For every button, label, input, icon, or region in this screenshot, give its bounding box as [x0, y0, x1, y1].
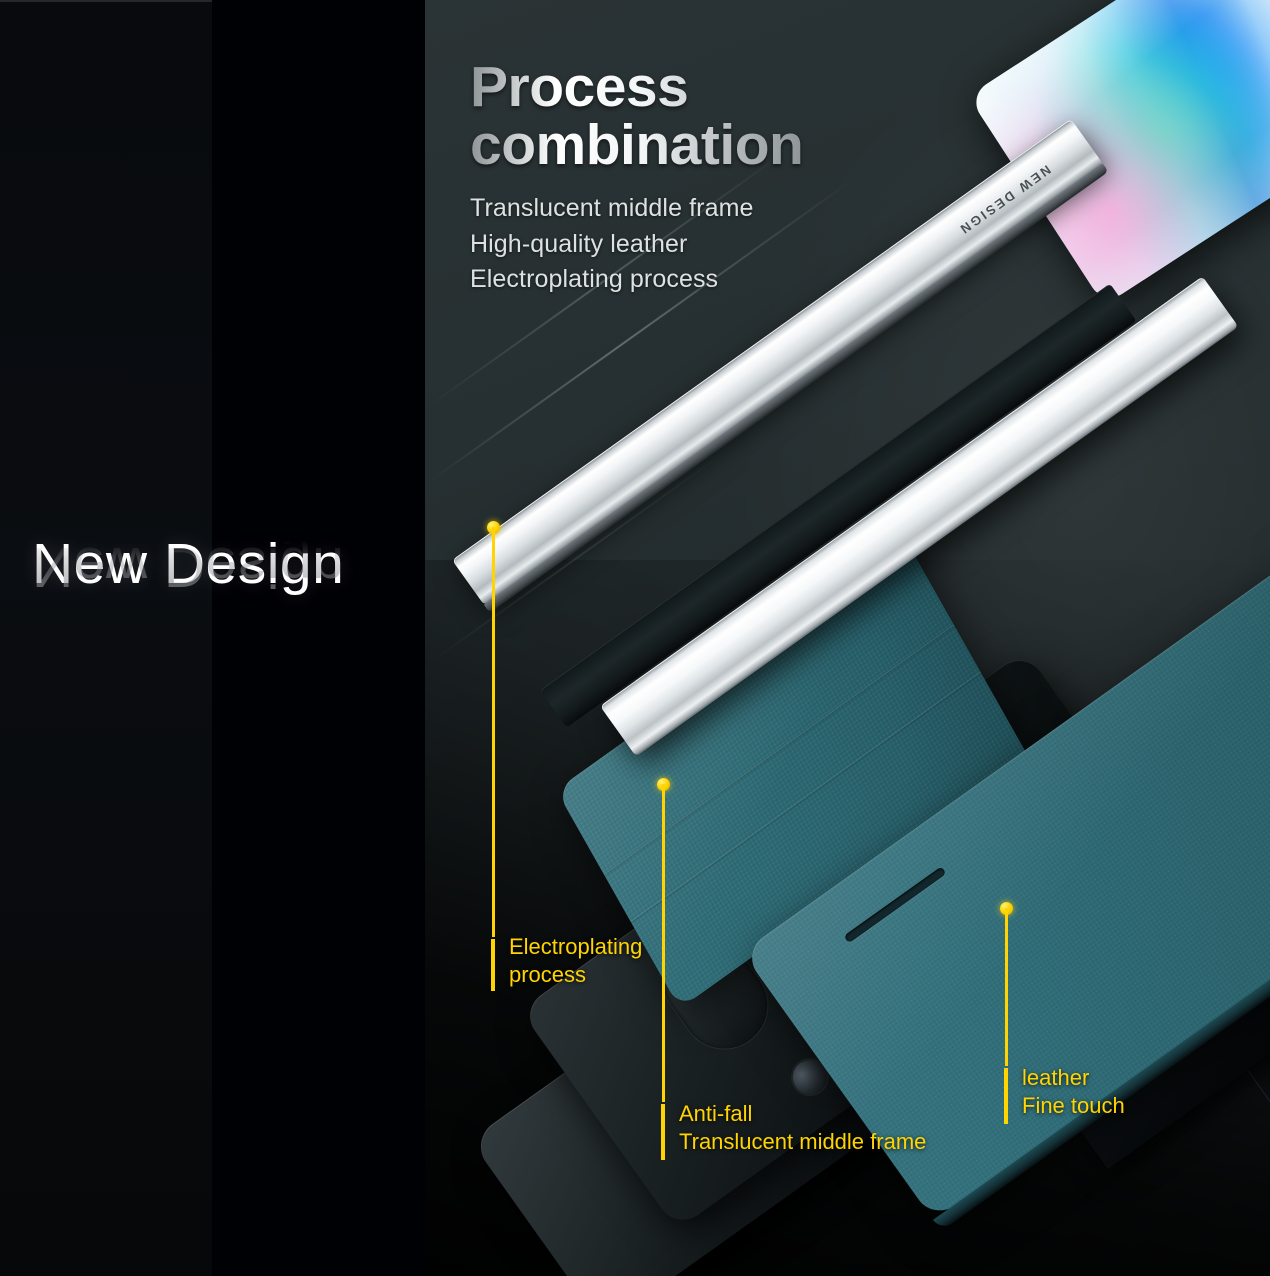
callout-label-electroplating: Electroplating process — [509, 933, 642, 989]
product-marketing-banner: NEW DESIGN Process combination Transluce… — [0, 0, 1270, 1276]
feature-list: Translucent middle frame High-quality le… — [470, 191, 803, 298]
callout-line-1: Anti-fall — [679, 1100, 926, 1128]
headline-line-1: Process — [470, 58, 803, 116]
feature-item-leather: High-quality leather — [470, 227, 803, 263]
callout-leader-line — [662, 784, 665, 1102]
callout-leader-line — [492, 527, 495, 937]
callout-line-1: Electroplating — [509, 933, 642, 961]
holographic-phone-screen — [968, 0, 1270, 306]
callout-line-2: process — [509, 961, 642, 989]
callout-label-anti-fall: Anti-fall Translucent middle frame — [679, 1100, 926, 1156]
callout-leader-line — [1005, 908, 1008, 1066]
brand-title-block: New Design New Design — [32, 536, 412, 652]
headline-block: Process combination Translucent middle f… — [470, 58, 803, 298]
engraved-new-design-label: NEW DESIGN — [956, 162, 1054, 238]
callout-line-2: Fine touch — [1022, 1092, 1125, 1120]
callout-label-tick — [1004, 1068, 1008, 1124]
callout-line-1: leather — [1022, 1064, 1125, 1092]
callout-label-tick — [661, 1104, 665, 1160]
leather-side-edge — [933, 802, 1270, 1232]
brand-title-reflection: New Design — [32, 538, 412, 595]
headline-line-2: combination — [470, 116, 803, 174]
speaker-slot — [844, 866, 947, 943]
callout-label-tick — [491, 939, 495, 991]
callout-line-2: Translucent middle frame — [679, 1128, 926, 1156]
callout-label-leather: leather Fine touch — [1022, 1064, 1125, 1120]
feature-item-electroplating: Electroplating process — [470, 262, 803, 298]
screen-glare — [968, 0, 1270, 306]
feature-item-translucent-frame: Translucent middle frame — [470, 191, 803, 227]
